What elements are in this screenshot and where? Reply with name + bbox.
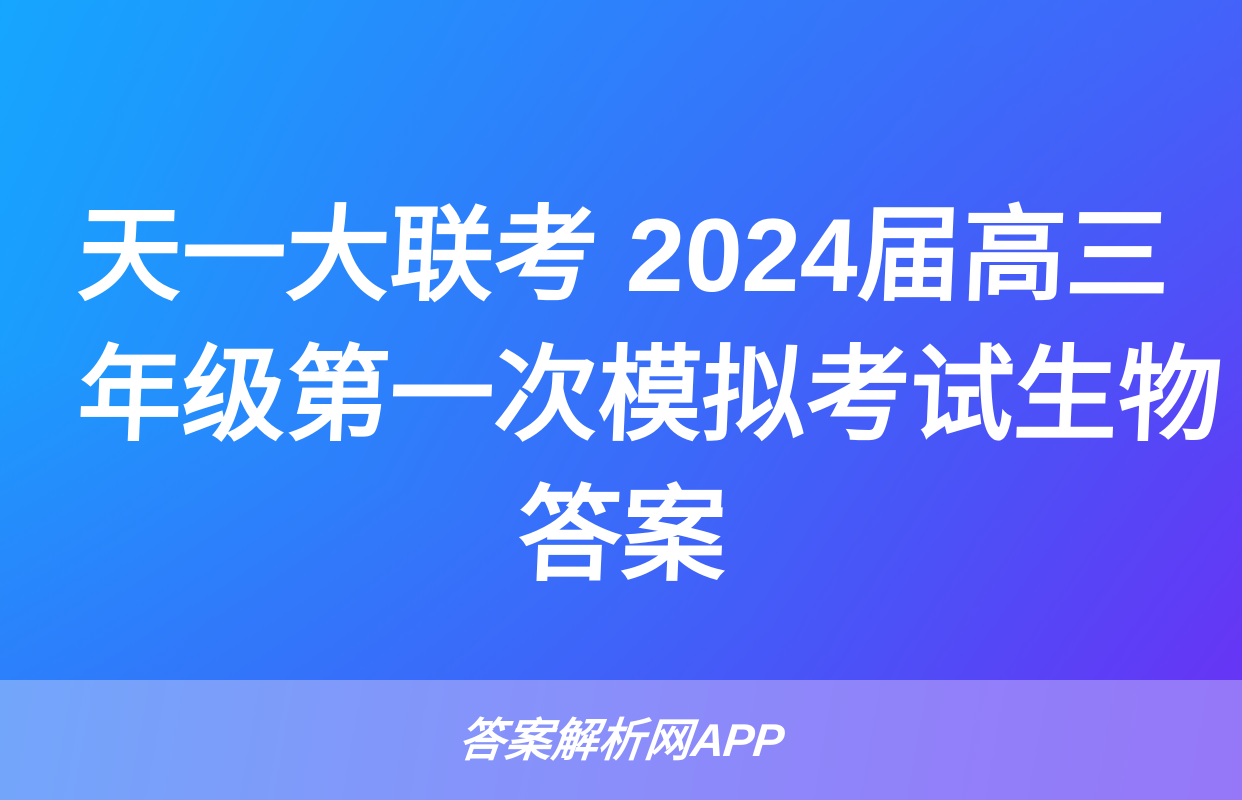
poster-canvas: 天一大联考 2024届高三 年级第一次模拟考试生物 答案 答案解析网APP [0,0,1242,800]
watermark-app-label: APP [689,714,786,766]
watermark-text: 答案解析网APP [456,715,785,765]
hero-gradient-panel: 天一大联考 2024届高三 年级第一次模拟考试生物 答案 [0,0,1242,680]
title-line-1: 天一大联考 2024届高三 [75,186,1169,326]
page-title: 天一大联考 2024届高三 年级第一次模拟考试生物 答案 [78,186,1166,606]
title-line-3: 答案 [75,466,1169,606]
title-line-2: 年级第一次模拟考试生物 [75,326,1169,466]
watermark-band: 答案解析网APP [0,680,1242,800]
watermark-site-name: 答案解析网 [456,714,694,766]
